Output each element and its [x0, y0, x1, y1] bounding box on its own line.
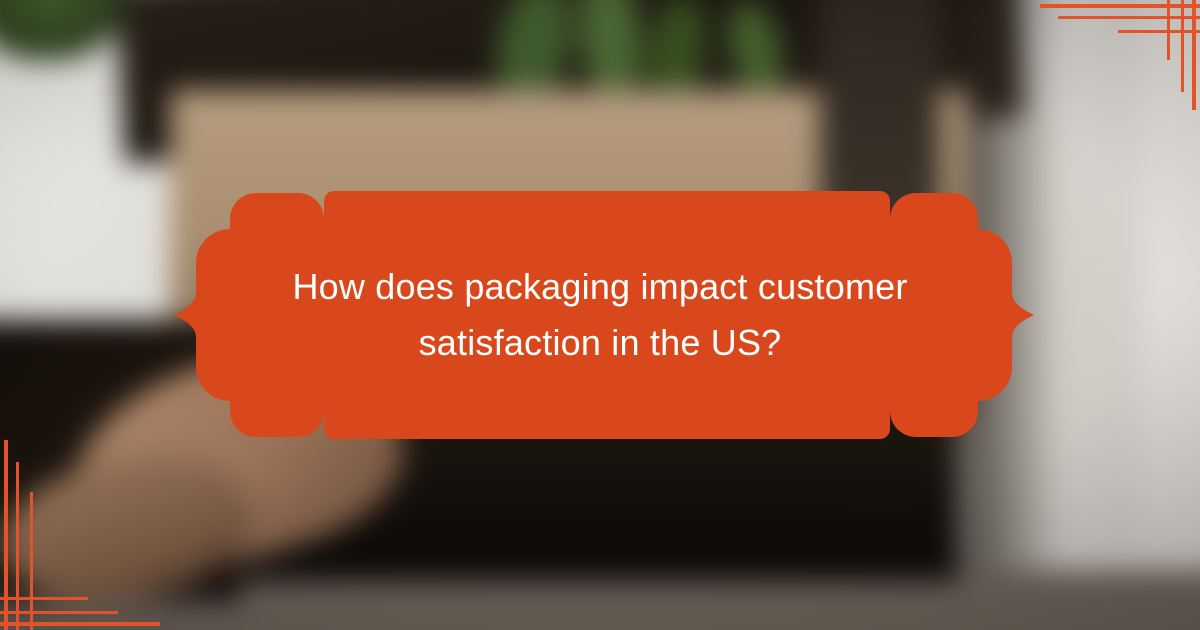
ornament-line-vertical — [4, 440, 8, 630]
ornament-line-vertical — [16, 462, 19, 630]
ornament-line-horizontal — [1040, 4, 1200, 8]
corner-ornament-top-right — [1040, 0, 1200, 110]
ornament-line-horizontal — [0, 622, 160, 626]
quote-card: How does packaging impact customer satis… — [0, 0, 1200, 630]
ornament-line-vertical — [30, 492, 33, 630]
ornament-line-vertical — [1167, 0, 1170, 60]
headline-badge: How does packaging impact customer satis… — [110, 191, 1090, 439]
ornament-line-horizontal — [1058, 16, 1200, 19]
ornament-line-vertical — [1192, 0, 1196, 110]
corner-ornament-bottom-left — [0, 440, 160, 630]
headline-text: How does packaging impact customer satis… — [110, 259, 1090, 371]
ornament-line-horizontal — [0, 597, 88, 600]
ornament-line-horizontal — [1118, 30, 1200, 33]
ornament-line-vertical — [1181, 0, 1184, 92]
